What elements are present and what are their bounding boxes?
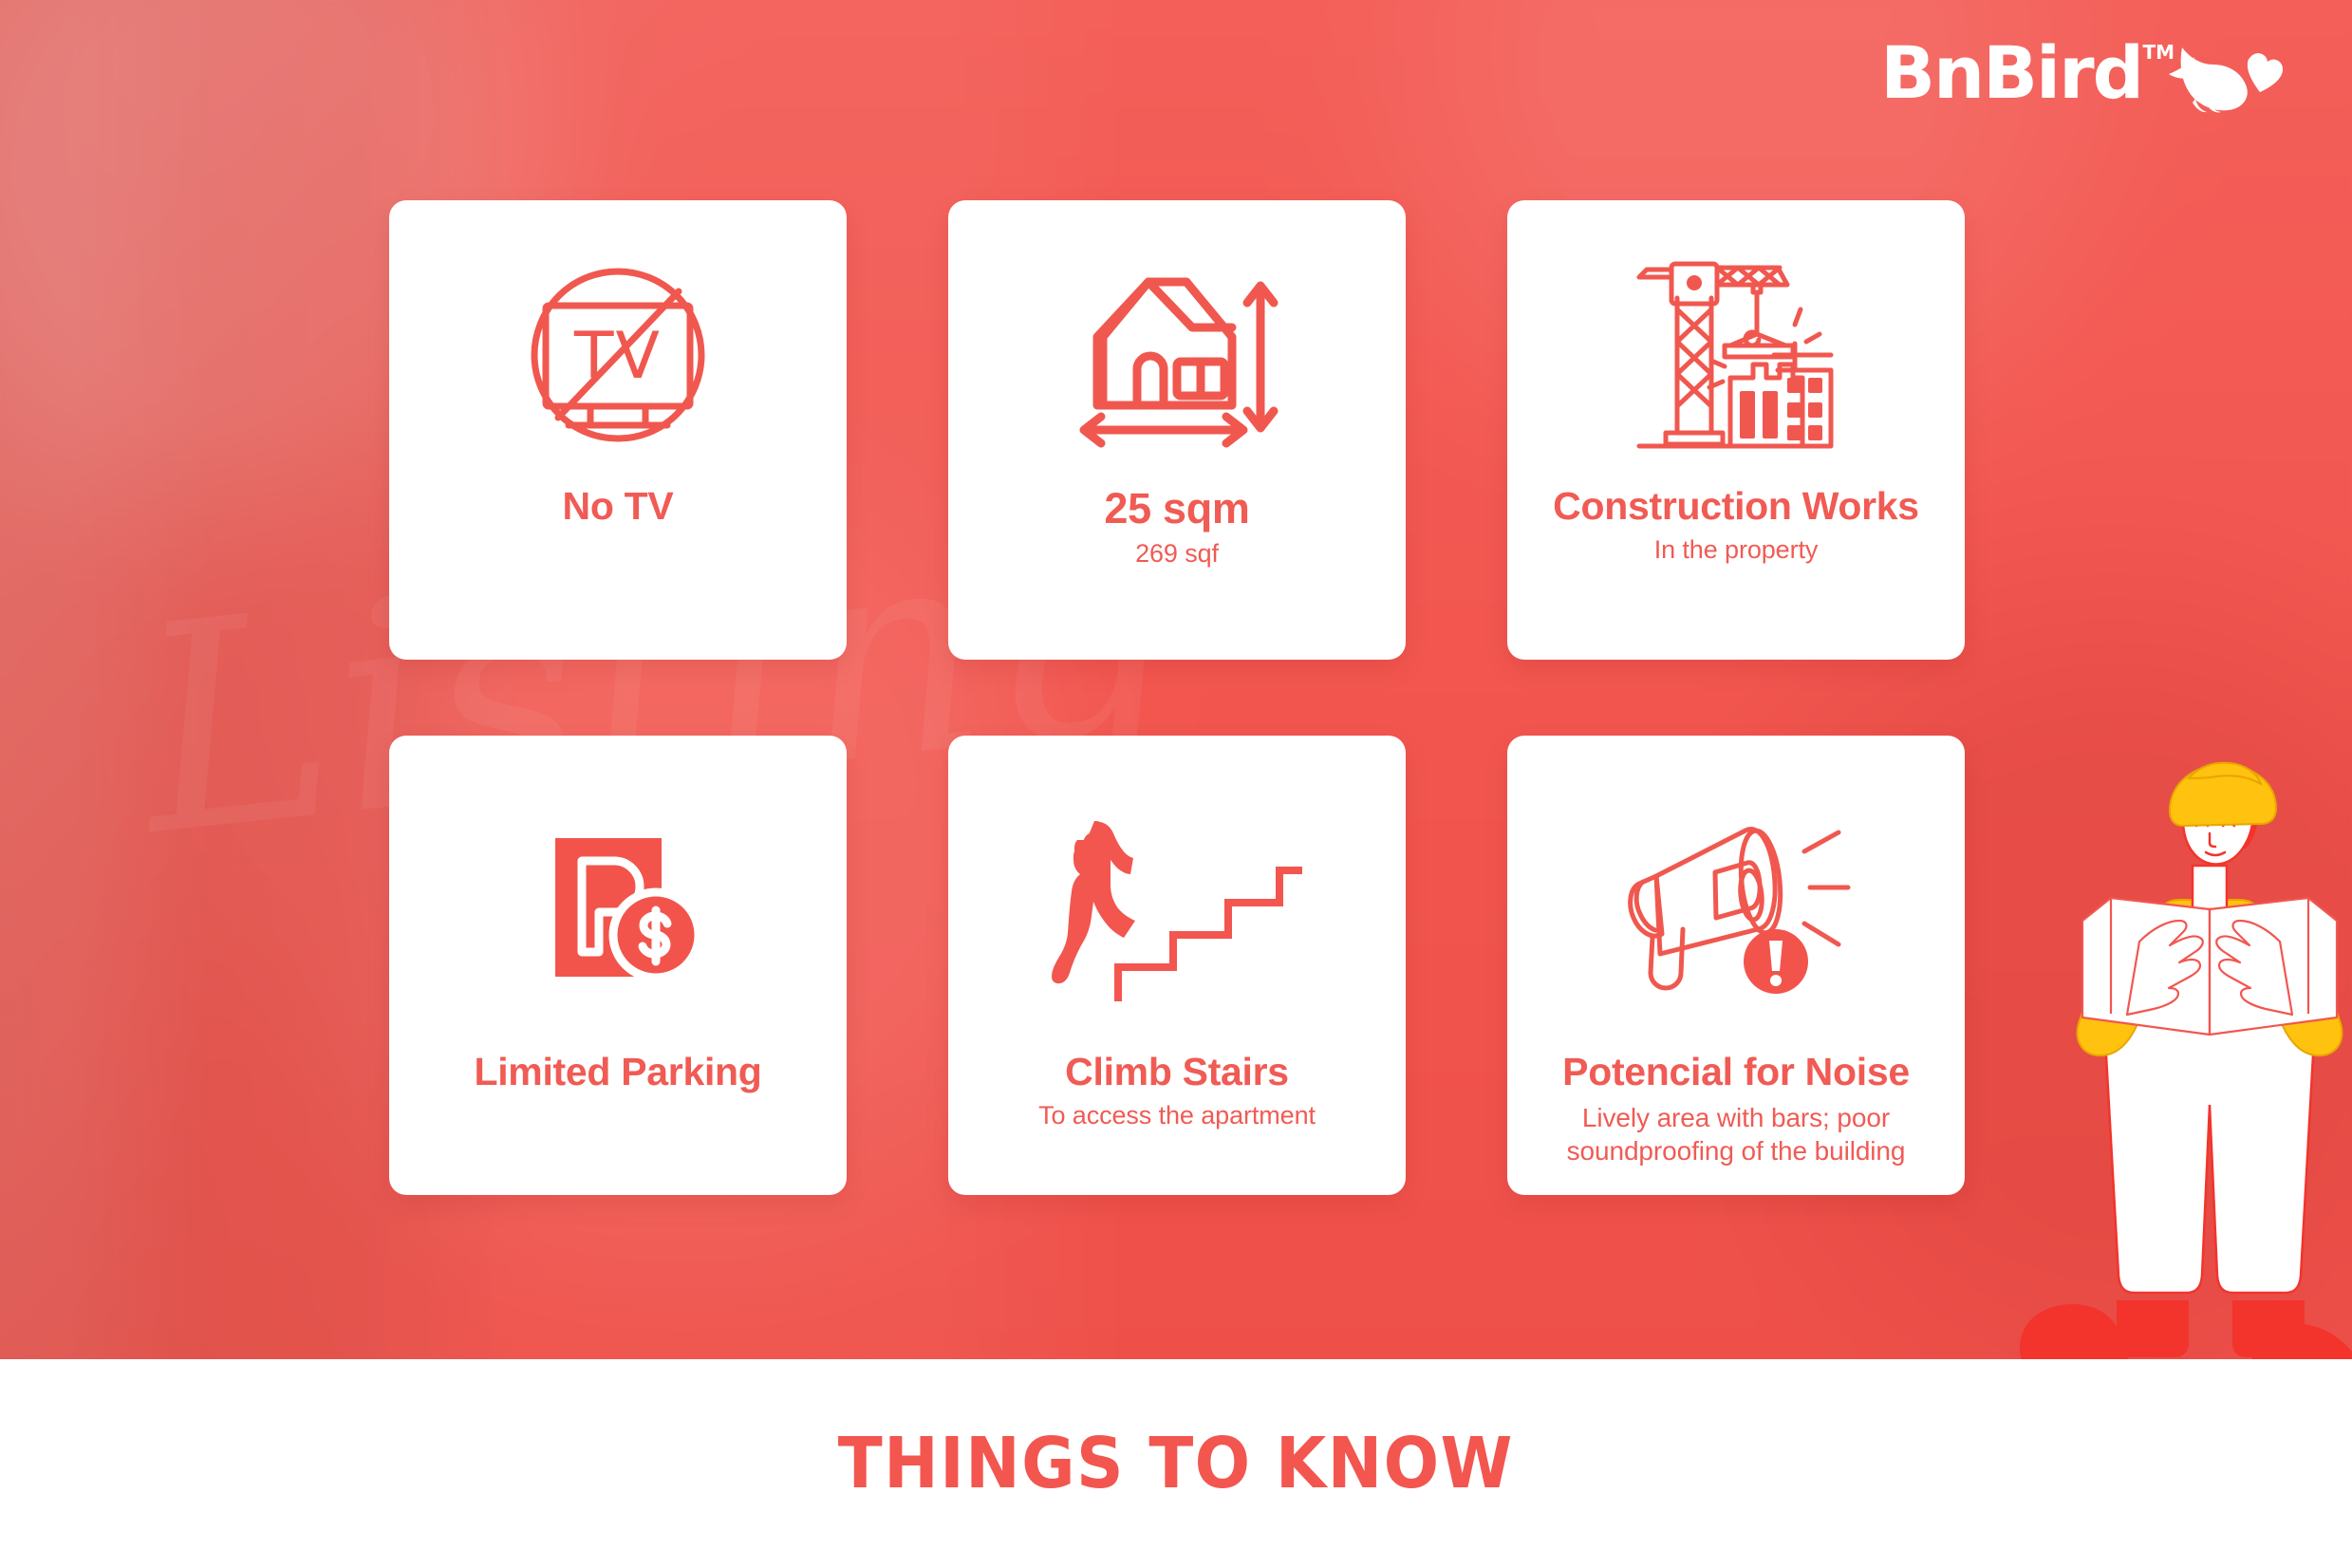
card-icon-slot: TV xyxy=(510,242,726,479)
card-noise[interactable]: Potencial for Noise Lively area with bar… xyxy=(1507,736,1965,1195)
no-tv-icon: TV xyxy=(510,252,726,469)
card-construction[interactable]: Construction Works In the property xyxy=(1507,200,1965,660)
card-title: Limited Parking xyxy=(474,1051,761,1094)
footer-band: THINGS TO KNOW xyxy=(0,1359,2352,1568)
card-title: 25 sqm xyxy=(1104,485,1249,532)
trademark-symbol: TM xyxy=(2142,43,2175,62)
brand-wordmark: BnBird TM xyxy=(1880,37,2142,109)
card-stairs[interactable]: Climb Stairs To access the apartment xyxy=(948,736,1406,1195)
hero-red-panel: Listing BnBird TM xyxy=(0,0,2352,1359)
card-text: Climb Stairs To access the apartment xyxy=(965,1051,1389,1195)
card-no-tv[interactable]: TV No TV xyxy=(389,200,847,660)
card-icon-slot xyxy=(1603,777,1869,1051)
megaphone-alert-icon xyxy=(1603,813,1869,1015)
card-text: Potencial for Noise Lively area with bar… xyxy=(1524,1051,1948,1195)
house-dimensions-icon xyxy=(1065,259,1289,463)
parking-paid-icon xyxy=(523,819,713,1009)
card-subtitle: To access the apartment xyxy=(1038,1101,1316,1131)
card-icon-slot xyxy=(1618,242,1854,479)
card-subtitle: In the property xyxy=(1654,535,1819,566)
brand-name: BnBird xyxy=(1880,30,2142,115)
footer-title: THINGS TO KNOW xyxy=(838,1423,1514,1504)
card-parking[interactable]: Limited Parking xyxy=(389,736,847,1195)
cards-row-1: TV No TV xyxy=(389,200,1965,660)
infographic-page: Listing BnBird TM xyxy=(0,0,2352,1568)
card-size[interactable]: 25 sqm 269 sqf xyxy=(948,200,1406,660)
card-title: Climb Stairs xyxy=(1065,1051,1289,1094)
construction-crane-icon xyxy=(1618,243,1854,478)
woman-reading-map-illustration xyxy=(2067,759,2352,1359)
bird-with-heart-icon xyxy=(2163,32,2291,114)
card-subtitle-line2: soundproofing of the building xyxy=(1567,1134,1906,1167)
card-text: 25 sqm 269 sqf xyxy=(965,479,1389,660)
card-text: Construction Works In the property xyxy=(1524,479,1948,660)
card-title: Potencial for Noise xyxy=(1562,1051,1910,1094)
brand-logo[interactable]: BnBird TM xyxy=(1880,32,2291,114)
card-icon-slot xyxy=(1065,242,1289,479)
card-text: No TV xyxy=(406,479,830,660)
card-icon-slot xyxy=(523,777,713,1051)
card-icon-slot xyxy=(1050,777,1304,1051)
card-subtitle: 269 sqf xyxy=(1135,539,1219,569)
card-text: Limited Parking xyxy=(406,1051,830,1195)
card-title: Construction Works xyxy=(1553,485,1919,529)
card-subtitle-line1: Lively area with bars; poor xyxy=(1582,1101,1890,1134)
cards-grid: TV No TV xyxy=(389,200,1965,1195)
person-climbing-stairs-icon xyxy=(1050,819,1304,1009)
card-title: No TV xyxy=(563,485,674,529)
cards-row-2: Limited Parking xyxy=(389,736,1965,1195)
